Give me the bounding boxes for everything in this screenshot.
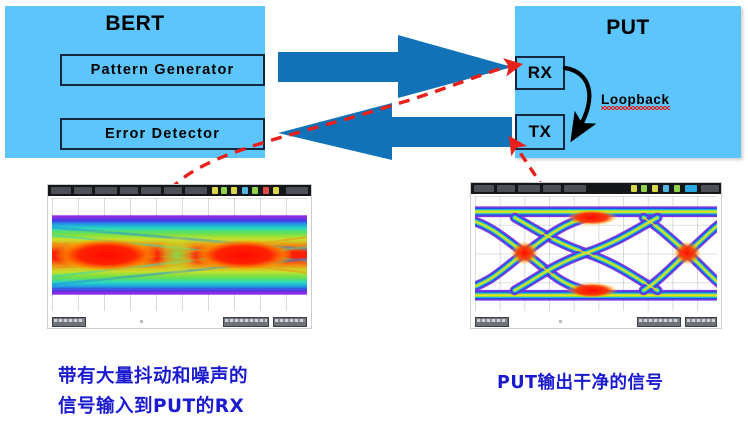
toolbar-icon[interactable] (273, 187, 279, 194)
scope-status-left (48, 315, 311, 328)
scope-status-right (471, 315, 721, 328)
toolbar-button[interactable] (95, 187, 117, 194)
toolbar-icon[interactable] (663, 185, 669, 192)
toolbar-icon[interactable] (221, 187, 227, 194)
status-chip (685, 317, 717, 327)
spellcheck-squiggle-icon (601, 106, 670, 110)
scope-screenshot-clean[interactable] (470, 182, 722, 329)
toolbar-button[interactable] (497, 185, 515, 192)
toolbar-button[interactable] (543, 185, 561, 192)
scope-toolbar-left (48, 185, 311, 196)
caption-clean-signal: PUT输出干净的信号 (497, 369, 663, 394)
slide-canvas: BERT Pattern Generator Error Detector PU… (0, 0, 748, 435)
status-dot (559, 320, 562, 323)
put-title: PUT (515, 16, 741, 40)
toolbar-button[interactable] (120, 187, 138, 194)
forward-data-arrow (278, 35, 512, 98)
scope-screenshot-noisy[interactable] (47, 184, 312, 329)
pattern-generator-label: Pattern Generator (91, 62, 235, 78)
caption-noisy-line1: 带有大量抖动和噪声的 (58, 362, 248, 392)
error-detector-box[interactable]: Error Detector (60, 118, 265, 150)
rx-port-box[interactable]: RX (515, 56, 565, 90)
toolbar-button[interactable] (564, 185, 586, 192)
toolbar-icon[interactable] (252, 187, 258, 194)
toolbar-button[interactable] (518, 185, 540, 192)
loopback-text: Loopback (601, 92, 670, 107)
error-detector-label: Error Detector (105, 126, 220, 142)
bert-title: BERT (5, 12, 265, 36)
toolbar-icon[interactable] (685, 185, 697, 192)
tx-port-box[interactable]: TX (515, 114, 565, 150)
put-panel: PUT RX TX Loopback (515, 6, 741, 158)
rx-label: RX (528, 63, 553, 83)
return-data-arrow (278, 103, 512, 160)
toolbar-button[interactable] (141, 187, 161, 194)
loopback-label: Loopback (601, 92, 670, 107)
toolbar-icon[interactable] (674, 185, 680, 192)
toolbar-icon[interactable] (641, 185, 647, 192)
toolbar-button[interactable] (474, 185, 494, 192)
toolbar-icon[interactable] (231, 187, 237, 194)
toolbar-icon[interactable] (212, 187, 218, 194)
status-chip (273, 317, 307, 327)
toolbar-icon[interactable] (242, 187, 248, 194)
eye-diagram-clean (475, 196, 717, 311)
toolbar-icon[interactable] (263, 187, 269, 194)
eye-diagram-noisy (52, 198, 307, 311)
status-chip (637, 317, 681, 327)
caption-noisy-line2: 信号输入到PUT的RX (58, 392, 248, 422)
toolbar-button[interactable] (74, 187, 92, 194)
caption-noisy-signal: 带有大量抖动和噪声的 信号输入到PUT的RX (58, 362, 248, 422)
pattern-generator-box[interactable]: Pattern Generator (60, 54, 265, 86)
scope-toolbar-right (471, 183, 721, 194)
toolbar-icon[interactable] (652, 185, 658, 192)
toolbar-icon[interactable] (631, 185, 637, 192)
toolbar-button[interactable] (51, 187, 71, 194)
status-chip (223, 317, 269, 327)
toolbar-button[interactable] (164, 187, 182, 194)
toolbar-button[interactable] (701, 185, 719, 192)
bert-panel: BERT Pattern Generator Error Detector (5, 6, 265, 158)
status-chip (475, 317, 509, 327)
toolbar-button[interactable] (185, 187, 207, 194)
status-dot (140, 320, 143, 323)
tx-label: TX (529, 122, 552, 142)
toolbar-button[interactable] (286, 187, 308, 194)
status-chip (52, 317, 86, 327)
